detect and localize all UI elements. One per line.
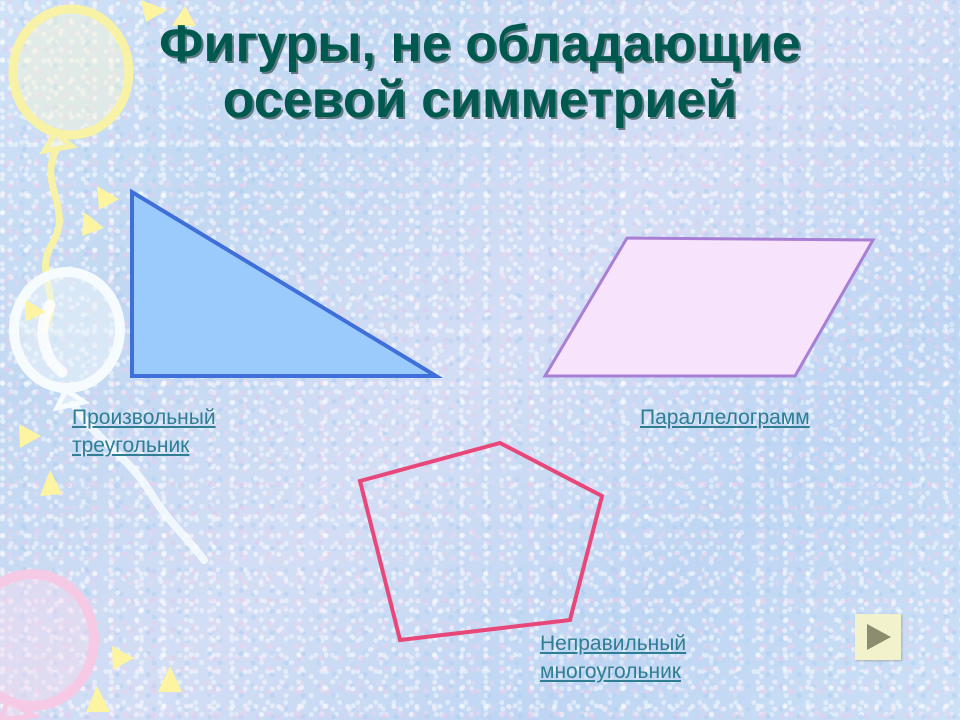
caption-arbitrary-triangle: Произвольный треугольник: [72, 404, 322, 459]
irregular-polygon-shape: [360, 443, 602, 640]
presentation-slide: Фигуры, не обладающие осевой симметрией …: [0, 0, 960, 720]
shapes-layer: [0, 0, 960, 720]
arbitrary-triangle-shape: [132, 192, 436, 376]
caption-irregular-polygon: Неправильный многоугольник: [540, 630, 800, 685]
next-slide-button[interactable]: [855, 614, 901, 660]
parallelogram-shape: [545, 238, 873, 376]
caption-parallelogram: Параллелограмм: [640, 404, 900, 432]
play-triangle-icon: [855, 614, 901, 660]
